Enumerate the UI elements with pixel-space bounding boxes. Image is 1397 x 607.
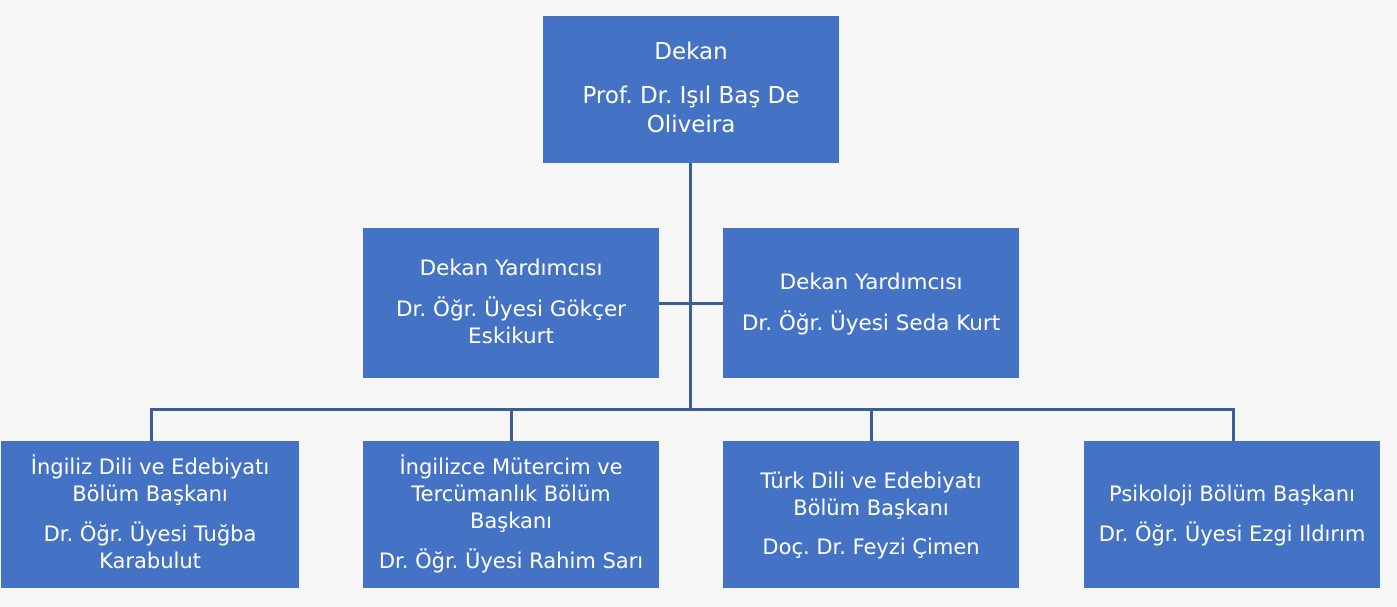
node-department-2: İngilizce Mütercim ve Tercümanlık Bölüm … [363, 441, 659, 588]
node-department-1-name: Dr. Öğr. Üyesi Tuğba Karabulut [7, 521, 293, 575]
node-department-4: Psikoloji Bölüm Başkanı Dr. Öğr. Üyesi E… [1084, 441, 1380, 588]
connector-vicedean-2 [689, 302, 725, 305]
connector-department-drop-1 [150, 408, 153, 442]
node-vice-dean-2-title: Dekan Yardımcısı [729, 269, 1013, 297]
node-department-2-title: İngilizce Mütercim ve Tercümanlık Bölüm … [369, 454, 653, 535]
connector-department-drop-3 [870, 408, 873, 442]
node-vice-dean-1-title: Dekan Yardımcısı [369, 255, 653, 283]
node-dean-title: Dekan [549, 38, 833, 67]
connector-department-bus [150, 408, 1235, 411]
node-vice-dean-2: Dekan Yardımcısı Dr. Öğr. Üyesi Seda Kur… [723, 228, 1019, 378]
org-chart: Dekan Prof. Dr. Işıl Baş De Oliveira Dek… [0, 0, 1397, 607]
node-department-4-name: Dr. Öğr. Üyesi Ezgi Ildırım [1090, 521, 1374, 548]
node-department-1-title: İngiliz Dili ve Edebiyatı Bölüm Başkanı [7, 454, 293, 508]
connector-department-drop-2 [510, 408, 513, 442]
node-dean: Dekan Prof. Dr. Işıl Baş De Oliveira [543, 16, 839, 163]
node-vice-dean-2-name: Dr. Öğr. Üyesi Seda Kurt [729, 310, 1013, 338]
node-department-2-name: Dr. Öğr. Üyesi Rahim Sarı [369, 548, 653, 575]
connector-department-drop-4 [1232, 408, 1235, 442]
node-department-3-title: Türk Dili ve Edebiyatı Bölüm Başkanı [729, 468, 1013, 522]
node-department-3-name: Doç. Dr. Feyzi Çimen [729, 534, 1013, 561]
node-department-1: İngiliz Dili ve Edebiyatı Bölüm Başkanı … [1, 441, 299, 588]
node-dean-name: Prof. Dr. Işıl Baş De Oliveira [549, 82, 833, 141]
node-department-4-title: Psikoloji Bölüm Başkanı [1090, 481, 1374, 508]
connector-dean-spine [689, 163, 692, 409]
node-vice-dean-1: Dekan Yardımcısı Dr. Öğr. Üyesi Gökçer E… [363, 228, 659, 378]
connector-vicedean-1 [659, 302, 691, 305]
node-department-3: Türk Dili ve Edebiyatı Bölüm Başkanı Doç… [723, 441, 1019, 588]
node-vice-dean-1-name: Dr. Öğr. Üyesi Gökçer Eskikurt [369, 296, 653, 351]
